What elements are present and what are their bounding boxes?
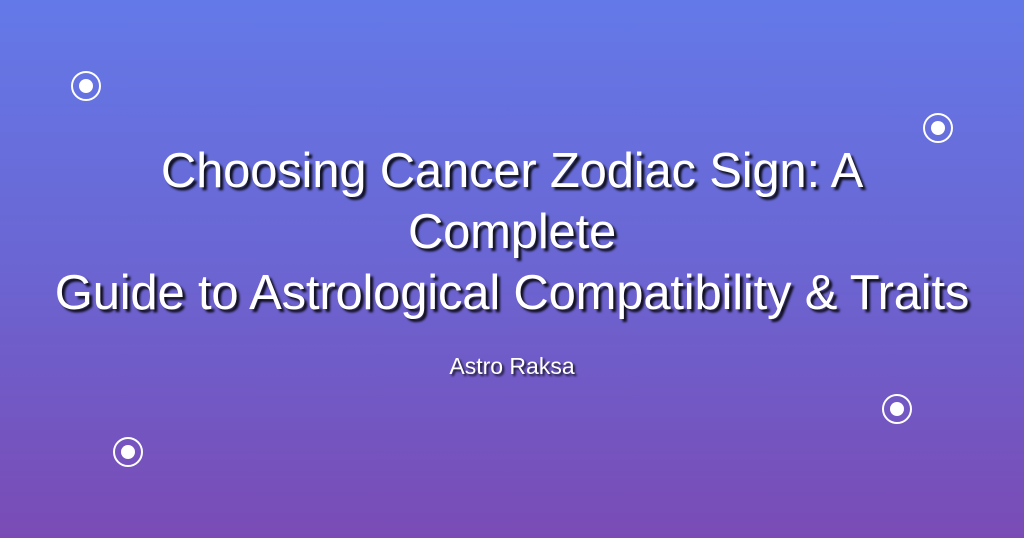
slide-content: Choosing Cancer Zodiac Sign: A Complete …	[0, 0, 1024, 538]
title-slide: Choosing Cancer Zodiac Sign: A Complete …	[0, 0, 1024, 538]
slide-subtitle: Astro Raksa	[449, 352, 574, 380]
page-title: Choosing Cancer Zodiac Sign: A Complete …	[52, 141, 972, 324]
